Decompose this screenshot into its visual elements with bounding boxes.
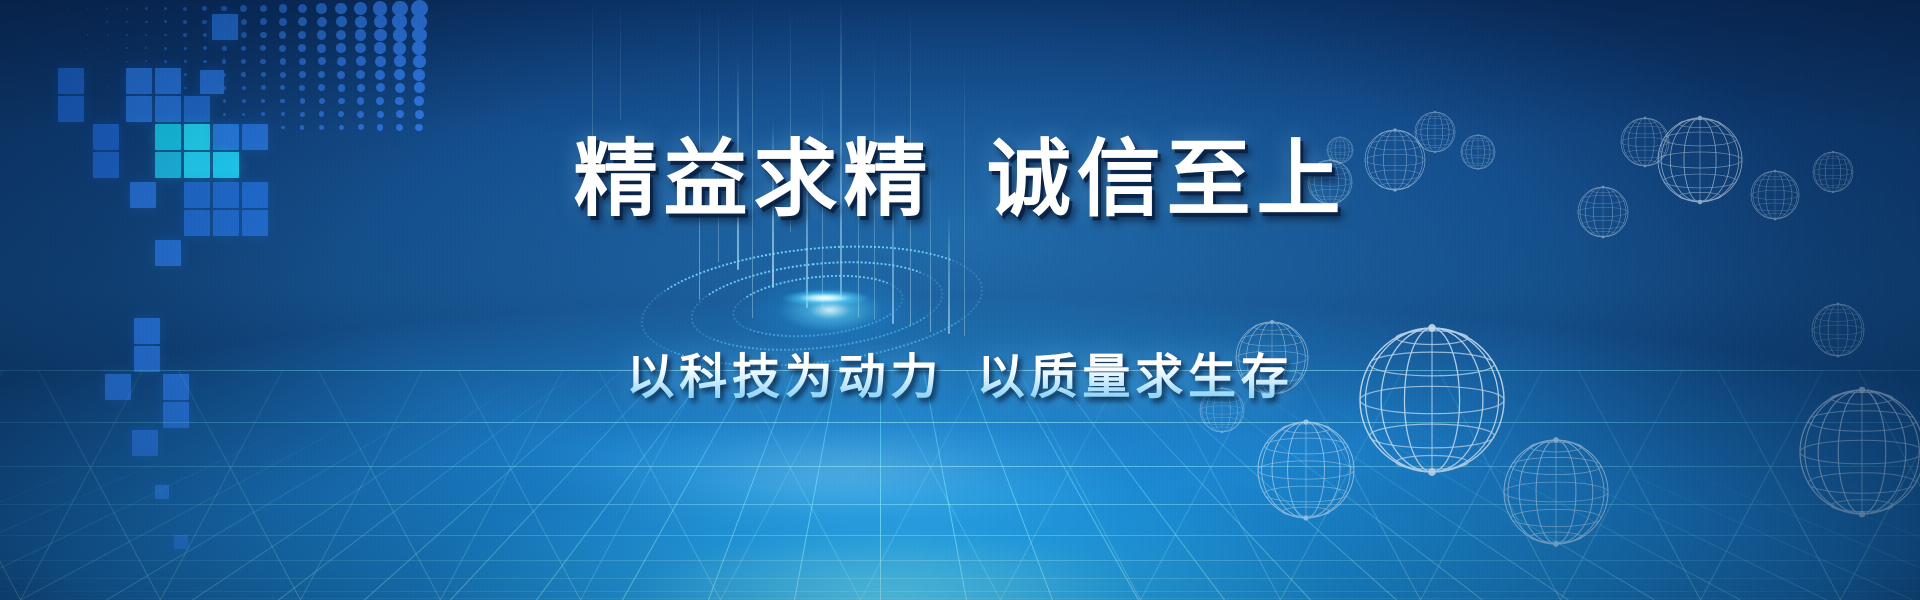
halftone-dot xyxy=(337,71,345,79)
halftone-dot xyxy=(299,71,306,78)
halftone-dot xyxy=(222,59,226,63)
halftone-dot xyxy=(222,33,227,38)
halftone-dot xyxy=(392,14,407,29)
halftone-dot xyxy=(280,85,285,90)
halftone-dot xyxy=(145,47,147,49)
halftone-dot xyxy=(203,46,207,50)
halftone-dot xyxy=(87,8,88,9)
halftone-dot xyxy=(165,73,167,75)
halftone-dot xyxy=(126,47,128,49)
halftone-dot xyxy=(375,70,385,80)
halftone-dot xyxy=(412,28,427,43)
halftone-dot xyxy=(107,74,108,75)
halftone-dot xyxy=(203,33,207,37)
halftone-dot xyxy=(376,97,384,105)
halftone-dot-pattern xyxy=(0,0,420,130)
halftone-dot xyxy=(221,6,227,12)
halftone-dot xyxy=(356,56,366,66)
halftone-dot xyxy=(299,58,306,65)
halftone-dot xyxy=(223,99,226,102)
halftone-dot xyxy=(298,4,307,13)
halftone-dot xyxy=(260,5,267,12)
halftone-dot xyxy=(145,60,147,62)
halftone-dot xyxy=(393,42,406,55)
halftone-dot xyxy=(107,34,108,35)
halftone-dot xyxy=(414,82,425,93)
halftone-dot xyxy=(374,42,386,54)
halftone-dot xyxy=(411,14,427,30)
halftone-dot xyxy=(164,34,167,37)
halftone-dot xyxy=(145,21,148,24)
halftone-dot xyxy=(203,86,206,89)
halftone-dot xyxy=(87,74,88,75)
halftone-dot xyxy=(240,5,247,12)
halftone-dot xyxy=(126,100,127,101)
halftone-dot xyxy=(87,21,88,22)
halftone-dot xyxy=(338,84,345,91)
halftone-dot xyxy=(126,8,128,10)
halftone-dot xyxy=(355,16,367,28)
mosaic-square xyxy=(155,240,181,266)
halftone-dot xyxy=(260,18,267,25)
halftone-dot xyxy=(164,7,167,10)
halftone-dot xyxy=(336,16,347,27)
halftone-dot xyxy=(145,87,147,89)
floor-horizon-line xyxy=(0,560,1920,561)
halftone-dot xyxy=(395,83,405,93)
halftone-dot xyxy=(260,32,267,39)
halftone-dot xyxy=(298,17,307,26)
floor-horizon-line xyxy=(0,598,1920,599)
floor-horizon-line xyxy=(0,578,1920,579)
halftone-dot xyxy=(260,45,266,51)
halftone-dot xyxy=(299,85,305,91)
halftone-dot xyxy=(145,74,147,76)
halftone-dot xyxy=(241,46,246,51)
floor-horizon-line xyxy=(0,422,1920,423)
mosaic-square xyxy=(58,68,84,94)
halftone-dot xyxy=(145,100,147,102)
halftone-dot xyxy=(260,59,266,65)
mosaic-square xyxy=(126,68,152,94)
halftone-dot xyxy=(183,20,187,24)
halftone-dot xyxy=(316,3,327,14)
halftone-dot xyxy=(126,21,128,23)
halftone-dot xyxy=(355,43,366,54)
halftone-dot xyxy=(318,57,326,65)
halftone-dot xyxy=(126,74,128,76)
halftone-dot xyxy=(280,58,286,64)
halftone-dot xyxy=(222,73,226,77)
halftone-dot xyxy=(107,101,108,102)
halftone-dot xyxy=(318,71,325,78)
mosaic-square xyxy=(212,14,238,40)
halftone-dot xyxy=(126,34,128,36)
halftone-dot xyxy=(87,48,88,49)
halftone-dot xyxy=(318,84,325,91)
halftone-dot xyxy=(412,41,426,55)
halftone-dot xyxy=(106,8,108,10)
halftone-dot xyxy=(375,56,386,67)
halftone-dot xyxy=(145,34,147,36)
halftone-dot xyxy=(298,31,306,39)
halftone-dot xyxy=(184,47,187,50)
halftone-dot xyxy=(261,72,266,77)
halftone-dot xyxy=(261,85,266,90)
halftone-dot xyxy=(355,29,366,40)
halftone-dot xyxy=(183,7,187,11)
halftone-dot xyxy=(376,83,385,92)
halftone-dot xyxy=(394,55,406,67)
halftone-dot xyxy=(336,30,346,40)
halftone-dot xyxy=(414,96,424,106)
halftone-dot xyxy=(279,18,287,26)
halftone-dot xyxy=(164,20,167,23)
halftone-dot xyxy=(357,97,364,104)
halftone-dot xyxy=(202,6,207,11)
mosaic-square xyxy=(200,70,224,94)
halftone-dot xyxy=(184,100,186,102)
banner-stage: 精益求精 诚信至上 以科技为动力 以质量求生存 xyxy=(0,0,1920,600)
halftone-dot xyxy=(374,15,387,28)
halftone-dot xyxy=(357,84,365,92)
halftone-dot xyxy=(413,69,425,81)
banner-headline: 精益求精 诚信至上 xyxy=(0,112,1920,233)
halftone-dot xyxy=(279,45,286,52)
halftone-dot xyxy=(373,1,387,15)
halftone-dot xyxy=(106,21,108,23)
halftone-dot xyxy=(184,60,187,63)
halftone-dot xyxy=(241,19,247,25)
halftone-dot xyxy=(317,44,326,53)
halftone-dot xyxy=(183,33,187,37)
halftone-dot xyxy=(356,70,365,79)
floor-horizon-line xyxy=(0,535,1920,536)
floor-horizon-line xyxy=(0,591,1920,592)
halftone-dot xyxy=(354,2,367,15)
halftone-dot xyxy=(279,31,286,38)
halftone-dot xyxy=(184,73,187,76)
glow-core-hotspot-icon xyxy=(770,288,880,308)
halftone-dot xyxy=(280,72,286,78)
halftone-dot xyxy=(241,72,246,77)
halftone-dot xyxy=(392,1,408,17)
halftone-dot xyxy=(241,59,246,64)
halftone-dot xyxy=(203,60,207,64)
halftone-dot xyxy=(337,57,346,66)
light-ray xyxy=(620,0,621,120)
halftone-dot xyxy=(222,86,226,90)
halftone-dot xyxy=(165,100,167,102)
halftone-dot xyxy=(184,87,187,90)
halftone-dot xyxy=(338,98,345,105)
halftone-dot xyxy=(317,30,326,39)
halftone-dot xyxy=(241,32,247,38)
halftone-dot xyxy=(203,73,206,76)
halftone-dot xyxy=(242,86,246,90)
halftone-dot xyxy=(222,46,227,51)
floor-horizon-line xyxy=(0,504,1920,505)
halftone-dot xyxy=(203,100,206,103)
halftone-dot xyxy=(335,3,347,15)
halftone-dot xyxy=(374,29,387,42)
halftone-dot xyxy=(242,99,246,103)
halftone-dot xyxy=(164,60,167,63)
banner-subtitle: 以科技为动力 以质量求生存 xyxy=(0,337,1920,407)
halftone-dot xyxy=(107,48,108,49)
halftone-dot xyxy=(145,7,148,10)
halftone-dot xyxy=(126,87,127,88)
halftone-dot xyxy=(87,34,88,35)
halftone-dot xyxy=(222,19,227,24)
halftone-dot xyxy=(87,61,88,62)
halftone-dot xyxy=(280,99,285,104)
halftone-dot xyxy=(394,69,405,80)
halftone-dot xyxy=(279,4,287,12)
halftone-dot xyxy=(319,98,325,104)
halftone-dot xyxy=(107,61,108,62)
halftone-dot xyxy=(298,44,306,52)
halftone-dot xyxy=(165,87,167,89)
halftone-dot xyxy=(395,97,404,106)
halftone-dot xyxy=(300,98,305,103)
halftone-dot xyxy=(164,47,167,50)
floor-horizon-line xyxy=(0,466,1920,467)
halftone-dot xyxy=(317,17,327,27)
halftone-dot xyxy=(393,28,407,42)
halftone-dot xyxy=(126,61,128,63)
halftone-dot xyxy=(202,20,207,25)
mosaic-square xyxy=(155,68,181,94)
halftone-dot xyxy=(261,99,265,103)
halftone-dot xyxy=(336,43,346,53)
halftone-dot xyxy=(411,0,428,17)
halftone-dot xyxy=(413,55,426,68)
halftone-dot xyxy=(68,8,69,9)
halftone-dot xyxy=(107,87,108,88)
